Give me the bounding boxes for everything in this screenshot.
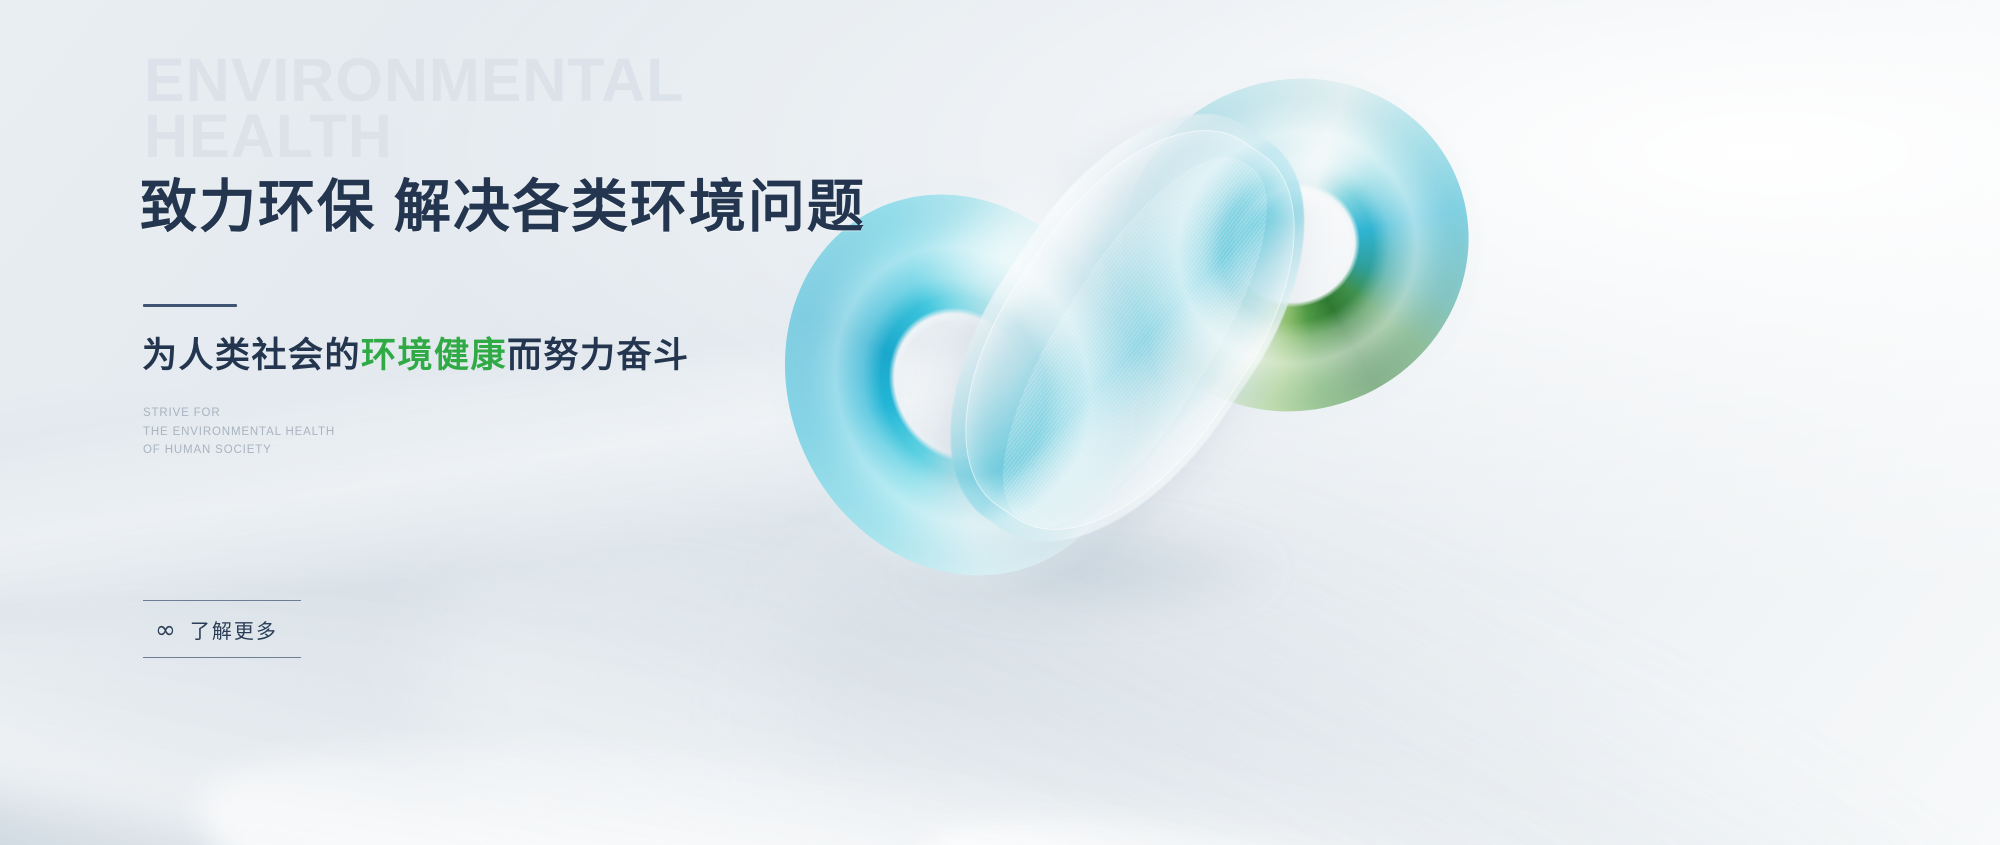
hero-banner: ENVIRONMENTAL HEALTH 致力环保 解决各类环境问题 为人类社会…	[0, 0, 2000, 845]
subtitle-before: 为人类社会的	[142, 336, 361, 375]
subtitle-highlight: 环境健康	[361, 336, 507, 375]
english-tagline: STRIVE FOR THE ENVIRONMENTAL HEALTH OF H…	[143, 404, 335, 460]
cta-label: 了解更多	[190, 615, 278, 644]
subtitle: 为人类社会的环境健康而努力奋斗	[142, 335, 690, 377]
infinity-icon: ∞	[155, 617, 176, 642]
page-title: 致力环保 解决各类环境问题	[140, 177, 866, 239]
cta-bottom-rule	[143, 657, 301, 658]
cta-row[interactable]: ∞ 了解更多	[143, 601, 301, 657]
title-divider	[143, 304, 237, 307]
learn-more-button[interactable]: ∞ 了解更多	[143, 600, 301, 658]
cta-top-rule	[143, 600, 301, 601]
subtitle-after: 而努力奋斗	[507, 336, 690, 375]
watermark-text: ENVIRONMENTAL HEALTH	[144, 52, 685, 164]
banner-copy-column: ENVIRONMENTAL HEALTH 致力环保 解决各类环境问题 为人类社会…	[140, 0, 1000, 845]
background-light-band-5	[884, 732, 2000, 845]
